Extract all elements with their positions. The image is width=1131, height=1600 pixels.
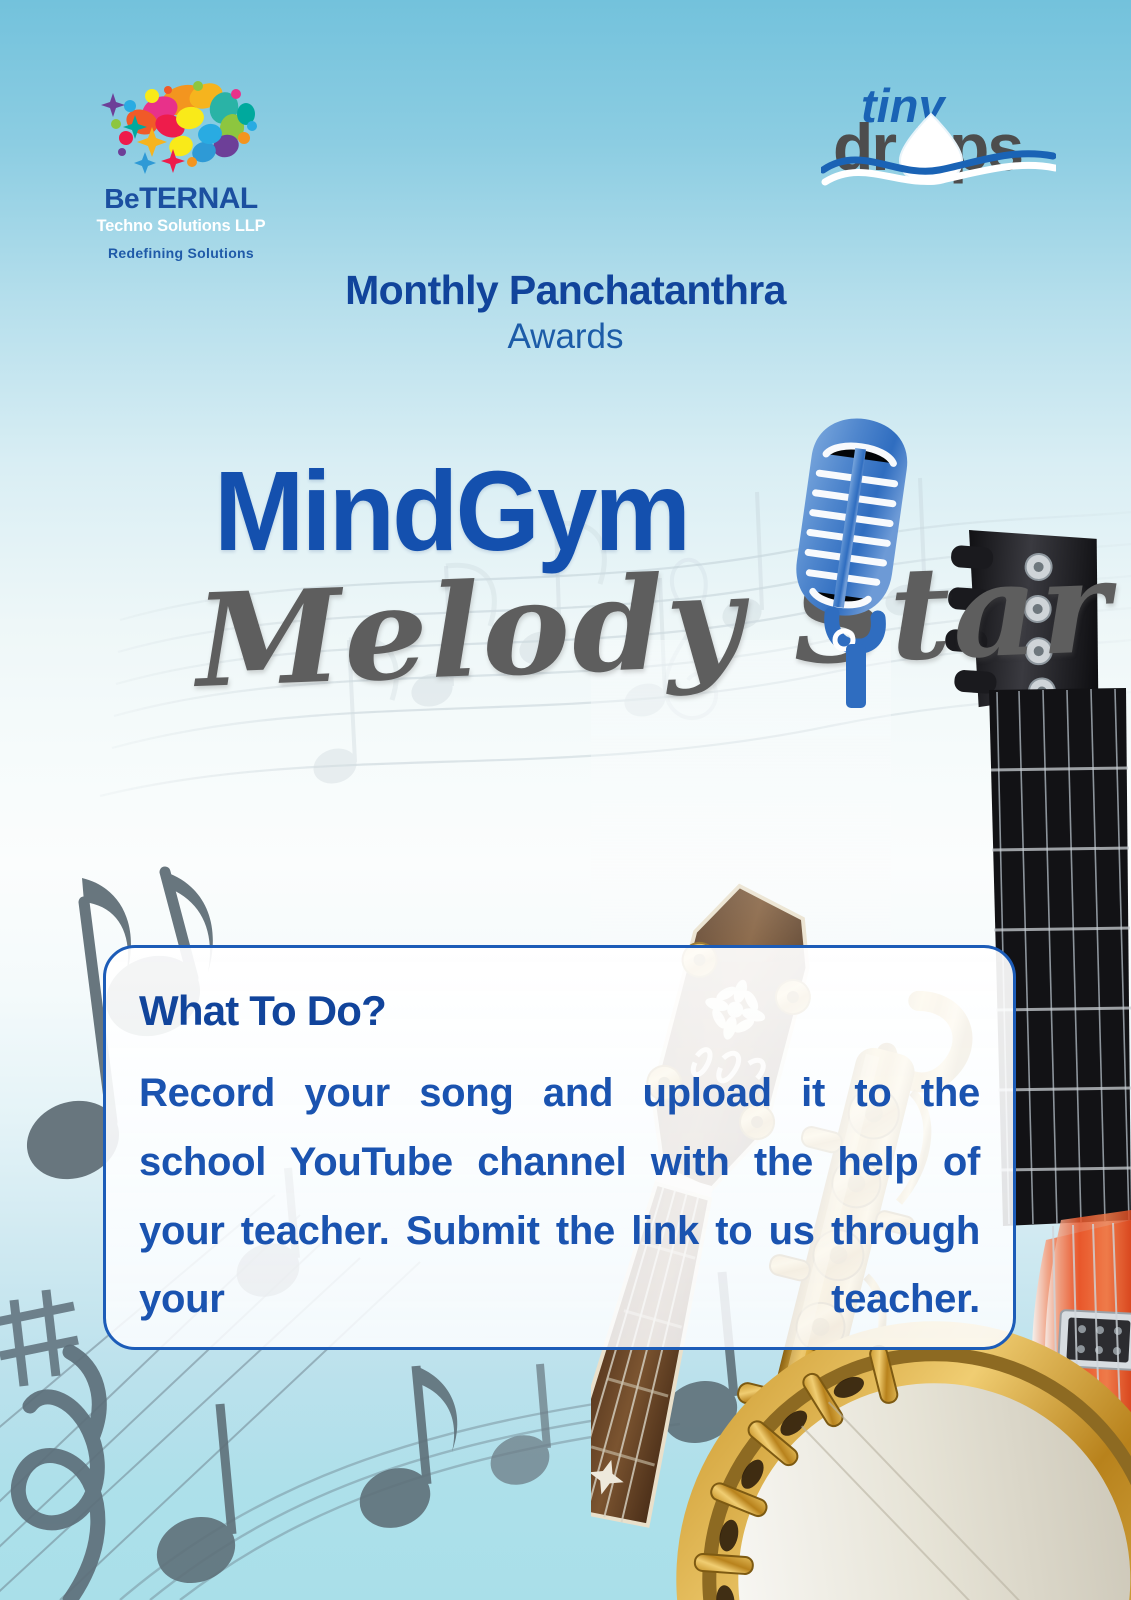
beternal-subtitle: Techno Solutions LLP	[86, 217, 276, 236]
beternal-logo: BeTERNAL Techno Solutions LLP Redefining…	[86, 72, 276, 252]
beternal-brand-name: BeTERNAL	[86, 184, 276, 214]
tiny-drops-logo: tiny dr ps	[821, 74, 1056, 189]
beternal-tagline: Redefining Solutions	[86, 245, 276, 261]
colorful-infinity-icon	[86, 72, 276, 182]
retro-microphone-icon	[770, 418, 930, 708]
instruction-heading: What To Do?	[139, 990, 980, 1032]
page-title: Monthly Panchatanthra Awards	[0, 268, 1131, 358]
instruction-box: What To Do? Record your song and upload …	[103, 945, 1016, 1350]
award-title-line1: Monthly Panchatanthra	[0, 268, 1131, 312]
melody-star-script: Melody Star	[194, 543, 1114, 706]
poster-canvas: BeTERNAL Techno Solutions LLP Redefining…	[0, 0, 1131, 1600]
award-title-line2: Awards	[0, 316, 1131, 358]
instruction-body: Record your song and upload it to the sc…	[139, 1059, 980, 1403]
